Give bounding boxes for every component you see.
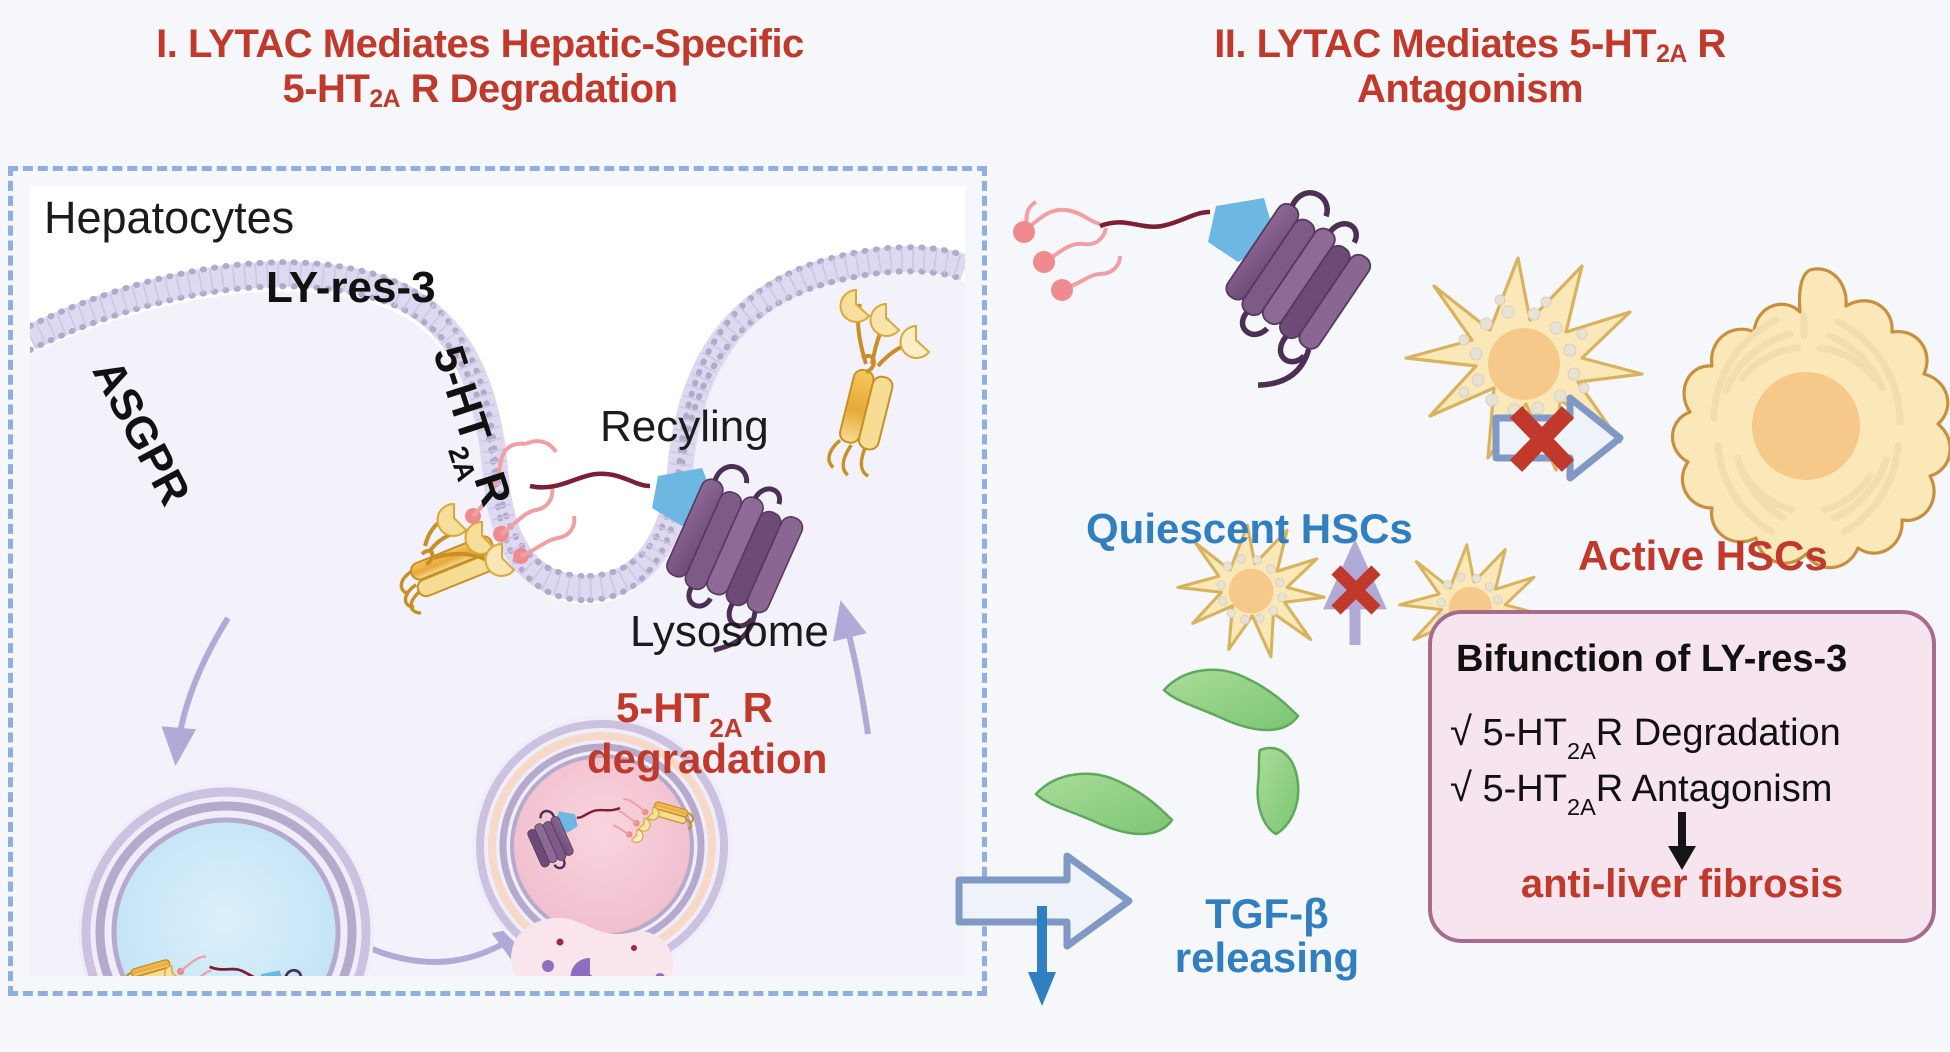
bifunction-item-antagonism: √ 5-HT2AR Antagonism (1450, 766, 1832, 816)
quiescent-hscs-label: Quiescent HSCs (1086, 505, 1413, 553)
left-title-5ht: 5-HT (282, 67, 369, 111)
bf-item-1-sub: 2A (1567, 794, 1596, 820)
hepatocyte-dashed-boundary (8, 166, 987, 996)
active-hsc-cell (1672, 269, 1950, 568)
degradation-tail: R (743, 684, 773, 731)
degradation-sub: 2A (709, 713, 742, 743)
check-icon: √ (1450, 710, 1472, 754)
bf-item-1-head: 5-HT (1483, 768, 1567, 810)
degradation-head: 5-HT (616, 684, 709, 731)
bifunction-box-title: Bifunction of LY-res-3 (1456, 638, 1847, 681)
right-title-sub: 2A (1656, 41, 1687, 68)
left-title-line-1: I. LYTAC Mediates Hepatic-Specific (20, 22, 940, 67)
recycling-label: Recyling (600, 402, 769, 452)
bf-item-1-tail: R Antagonism (1596, 768, 1833, 810)
left-panel-title: I. LYTAC Mediates Hepatic-Specific 5-HT2… (20, 22, 940, 112)
right-title-line-2: Antagonism (1080, 67, 1860, 112)
right-panel-title: II. LYTAC Mediates 5-HT2A R Antagonism (1080, 22, 1860, 112)
bifunction-item-degradation: √ 5-HT2AR Degradation (1450, 710, 1841, 760)
bf-item-0-tail: R Degradation (1596, 712, 1841, 754)
left-title-tail: R Degradation (400, 67, 677, 111)
left-title-line-2: 5-HT2A R Degradation (20, 67, 940, 112)
degradation-line-2: degradation (587, 735, 827, 782)
tgf-beta-line-2: releasing (1175, 934, 1359, 981)
check-icon: √ (1450, 766, 1472, 810)
right-title-head: II. LYTAC Mediates 5-HT (1214, 22, 1656, 66)
bifunction-summary-box: Bifunction of LY-res-3 √ 5-HT2AR Degrada… (1428, 610, 1936, 943)
tgf-beta-particles (1036, 670, 1298, 834)
lysosome-label: Lysosome (630, 607, 829, 657)
bf-item-0-head: 5-HT (1483, 712, 1567, 754)
bifunction-result-label: anti-liver fibrosis (1432, 862, 1932, 907)
ly-res-3-label: LY-res-3 (266, 263, 436, 313)
blocked-tgfb-arrow (1336, 550, 1376, 645)
tgfb-down-arrow (1028, 906, 1056, 1006)
tgf-beta-releasing-label: TGF-β releasing (1167, 892, 1367, 980)
tgf-beta-line-1: TGF-β (1205, 890, 1329, 937)
active-hscs-label: Active HSCs (1578, 532, 1828, 580)
right-title-line-1: II. LYTAC Mediates 5-HT2A R (1080, 22, 1860, 67)
left-title-sub: 2A (369, 86, 400, 113)
bf-item-0-sub: 2A (1567, 738, 1596, 764)
right-title-tail: R (1687, 22, 1726, 66)
hepatocytes-label: Hepatocytes (44, 192, 294, 244)
degradation-label: 5-HT2AR degradation (587, 686, 802, 781)
